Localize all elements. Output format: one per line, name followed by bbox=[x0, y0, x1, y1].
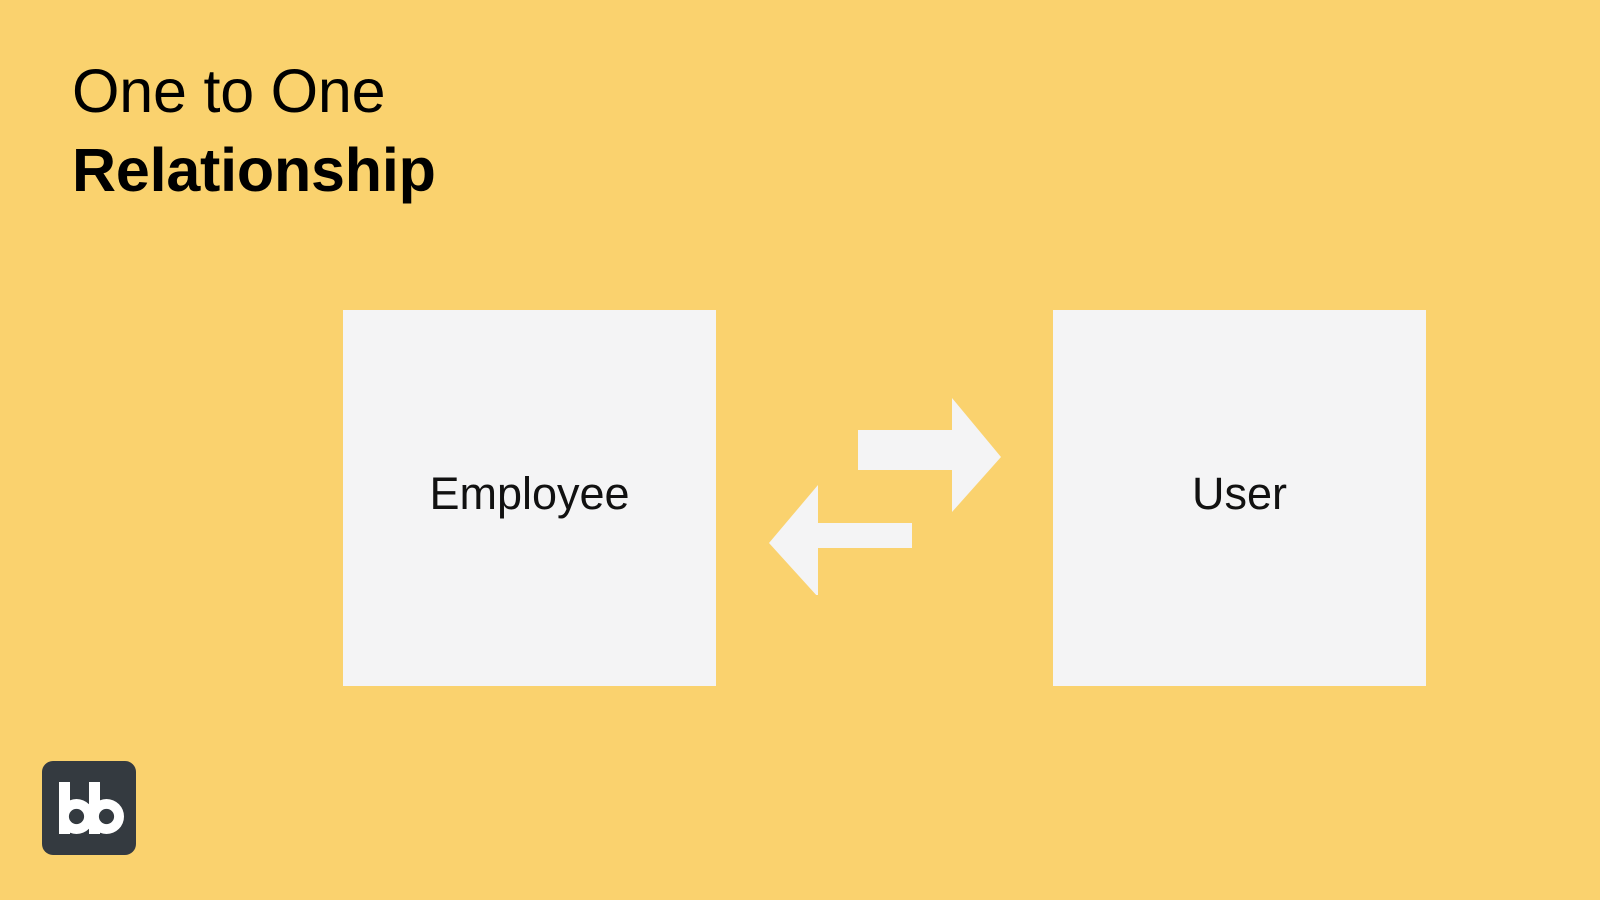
logo-letter-b-second bbox=[89, 782, 124, 834]
slide-canvas: One to One Relationship Employee User bbox=[0, 0, 1600, 900]
arrow-right-icon bbox=[858, 398, 1001, 512]
bidirectional-arrows-icon bbox=[760, 390, 1010, 595]
bidirectional-arrows-svg bbox=[760, 390, 1010, 595]
brand-logo[interactable] bbox=[42, 761, 136, 855]
entity-box-employee[interactable]: Employee bbox=[343, 310, 716, 686]
entity-label-employee: Employee bbox=[343, 468, 716, 520]
page-title-line-regular: One to One bbox=[72, 52, 436, 131]
entity-box-user[interactable]: User bbox=[1053, 310, 1426, 686]
arrow-left-icon bbox=[769, 485, 912, 595]
logo-letter-b-first bbox=[59, 782, 94, 834]
page-title: One to One Relationship bbox=[72, 52, 436, 211]
page-title-line-bold: Relationship bbox=[72, 131, 436, 210]
brand-logo-mark bbox=[42, 761, 136, 855]
entity-label-user: User bbox=[1053, 468, 1426, 520]
